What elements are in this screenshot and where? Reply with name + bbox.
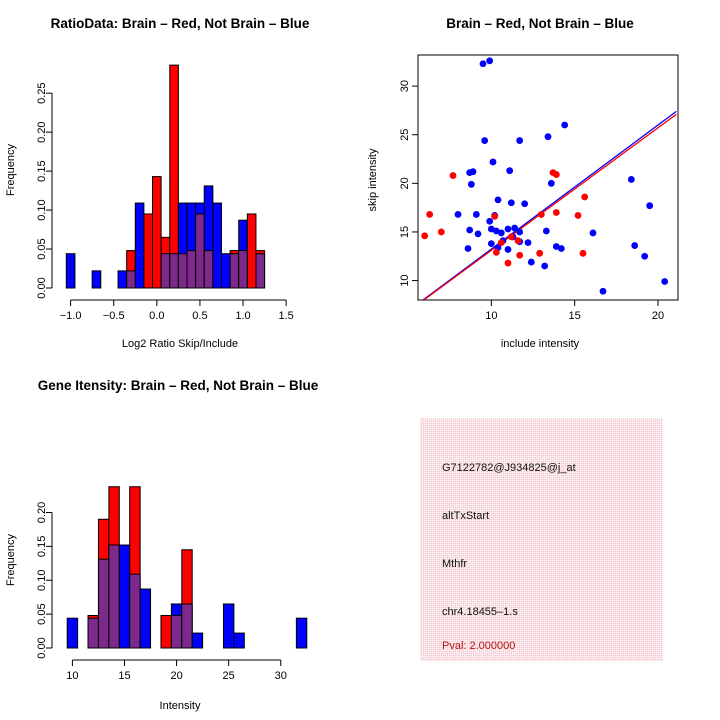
histogram-bar [213,203,222,288]
histogram-bar-overlap [182,604,192,648]
scatter-point [505,246,512,253]
histogram-bar-overlap [178,254,187,288]
y-tick-label: 25 [399,129,411,141]
scatter-point [473,211,480,218]
histogram-bar [221,254,230,288]
scatter-point [490,159,497,166]
scatter-point [498,239,505,246]
histogram-bar [118,271,127,288]
info-event-type: altTxStart [442,510,489,522]
histogram-bar [296,618,306,648]
histogram-bar-overlap [98,559,108,648]
scatter-point [508,199,515,206]
x-tick-label: 15 [569,310,581,322]
scatter-point [631,242,638,249]
histogram-bar [135,203,144,288]
histogram-bar-overlap [130,574,140,648]
scatter-point [525,239,532,246]
scatter-point [521,200,528,207]
scatter-point [493,249,500,256]
x-tick-label: 15 [118,670,130,682]
reference-line-red-fit [424,114,677,300]
y-tick-label: 30 [399,80,411,92]
histogram-bar-overlap [204,251,213,288]
scatter-point [505,226,512,233]
y-tick-label: 0.10 [36,570,48,591]
x-tick-label: 20 [652,310,664,322]
scatter-svg: Brain – Red, Not Brain – Blue 1015202530… [360,0,720,360]
scatter-ylabel: skip intensity [367,148,379,211]
y-tick-label: 0.20 [36,502,48,523]
scatter-point [468,181,475,188]
y-tick-label: 15 [399,226,411,238]
histogram-bar-overlap [171,615,181,648]
gene-histogram-title: Gene Itensity: Brain – Red, Not Brain – … [38,378,319,393]
histogram-bar-overlap [161,254,170,288]
panel-scatter: Brain – Red, Not Brain – Blue 1015202530… [360,0,720,360]
figure-canvas: RatioData: Brain – Red, Not Brain – Blue… [0,0,720,720]
scatter-point [508,233,515,240]
ratio-histogram-plot-area: 0.000.050.100.150.200.25−1.0−0.50.00.51.… [36,65,294,322]
panel-info: G7122782@J934825@j_at altTxStart Mthfr c… [360,360,720,720]
ratio-histogram-svg: RatioData: Brain – Red, Not Brain – Blue… [0,0,360,360]
scatter-point [486,57,493,64]
info-panel-box: G7122782@J934825@j_at altTxStart Mthfr c… [420,418,663,661]
y-tick-label: 0.05 [36,238,48,259]
histogram-bar-overlap [239,251,248,288]
scatter-point [545,133,552,140]
x-tick-label: 25 [223,670,235,682]
scatter-point [661,278,668,285]
y-tick-label: 10 [399,274,411,286]
scatter-point [641,253,648,260]
scatter-plot-area: 1015202530101520 [399,55,678,322]
histogram-bar-overlap [187,251,196,288]
y-tick-label: 0.10 [36,199,48,220]
scatter-point [491,213,498,220]
panel-gene-histogram: Gene Itensity: Brain – Red, Not Brain – … [0,360,360,720]
histogram-bar [92,271,101,288]
ratio-histogram-title: RatioData: Brain – Red, Not Brain – Blue [51,16,310,31]
histogram-bar-overlap [88,618,98,648]
scatter-xlabel: include intensity [501,338,580,350]
scatter-point [646,202,653,209]
histogram-bar [119,545,129,648]
scatter-point [470,168,477,175]
histogram-bar-overlap [230,254,239,288]
gene-histogram-plot-area: 0.000.050.100.150.201015202530 [36,487,307,682]
scatter-point [575,212,582,219]
x-tick-label: 10 [485,310,497,322]
histogram-bar-overlap [109,545,119,648]
scatter-point [438,229,445,236]
scatter-point [481,137,488,144]
gene-histogram-ylabel: Frequency [5,534,17,586]
histogram-bar [66,254,75,288]
y-tick-label: 0.05 [36,603,48,624]
info-coordinate: chr4.18455–1.s [442,606,518,618]
scatter-point [536,250,543,257]
scatter-point [450,172,457,179]
histogram-bar [192,633,202,648]
scatter-point [553,171,560,178]
scatter-point [475,230,482,237]
panel-ratio-histogram: RatioData: Brain – Red, Not Brain – Blue… [0,0,360,360]
histogram-bar-overlap [256,254,265,288]
scatter-point [505,260,512,267]
scatter-point [561,122,568,129]
y-tick-label: 0.15 [36,160,48,181]
histogram-bar [247,214,256,288]
y-tick-label: 0.20 [36,121,48,142]
info-probe-id: G7122782@J934825@j_at [442,462,576,474]
scatter-point [541,263,548,270]
scatter-point [495,196,502,203]
scatter-point [543,228,550,235]
scatter-point [558,245,565,252]
y-tick-label: 0.00 [36,637,48,658]
scatter-point [488,240,495,247]
scatter-point [426,211,433,218]
histogram-bar-overlap [170,254,179,288]
scatter-point [581,194,588,201]
scatter-point [580,250,587,257]
x-tick-label: 20 [170,670,182,682]
histogram-bar [140,589,150,648]
y-tick-label: 20 [399,177,411,189]
info-gene-symbol: Mthfr [442,558,467,570]
scatter-inner [421,57,676,300]
histogram-bar-overlap [127,271,136,288]
scatter-point [480,60,487,67]
scatter-title: Brain – Red, Not Brain – Blue [446,16,634,31]
histogram-bar [234,633,244,648]
ratio-histogram-xlabel: Log2 Ratio Skip/Include [122,338,238,350]
scatter-point [553,209,560,216]
plot-frame [418,55,678,300]
scatter-point [548,180,555,187]
scatter-point [486,218,493,225]
y-tick-label: 0.00 [36,277,48,298]
scatter-point [516,252,523,259]
histogram-bar [161,615,171,648]
scatter-point [590,230,597,237]
info-pval: Pval: 2.000000 [442,640,515,652]
gene-histogram-xlabel: Intensity [160,700,201,712]
histogram-bar [153,177,162,288]
scatter-point [538,211,545,218]
histogram-bar [144,214,153,288]
x-tick-label: 10 [66,670,78,682]
gene-histogram-svg: Gene Itensity: Brain – Red, Not Brain – … [0,360,360,720]
scatter-point [600,288,607,295]
x-tick-label: −0.5 [103,310,125,322]
scatter-point [465,245,472,252]
scatter-point [516,137,523,144]
histogram-bar-overlap [196,214,205,288]
scatter-point [516,229,523,236]
scatter-point [466,227,473,234]
ratio-histogram-ylabel: Frequency [5,144,17,196]
scatter-point [498,230,505,237]
scatter-point [455,211,462,218]
histogram-bar [67,618,77,648]
scatter-point [506,167,513,174]
x-tick-label: −1.0 [60,310,82,322]
reference-line-blue-fit [423,111,676,300]
scatter-point [528,259,535,266]
x-tick-label: 1.0 [235,310,250,322]
histogram-bar [223,604,233,648]
y-tick-label: 0.15 [36,536,48,557]
x-tick-label: 30 [275,670,287,682]
x-tick-label: 1.5 [278,310,293,322]
scatter-point [421,232,428,239]
scatter-point [515,237,522,244]
x-tick-label: 0.0 [149,310,164,322]
y-tick-label: 0.25 [36,82,48,103]
scatter-point [628,176,635,183]
x-tick-label: 0.5 [192,310,207,322]
